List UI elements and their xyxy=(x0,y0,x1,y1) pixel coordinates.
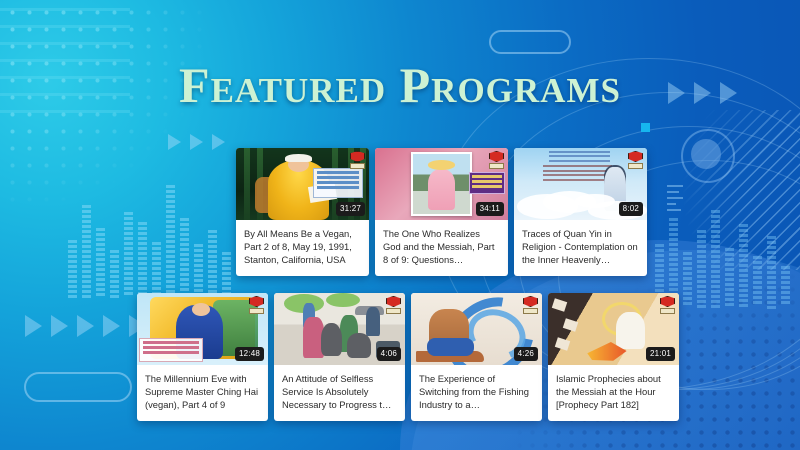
channel-logo-badge xyxy=(488,151,505,171)
triangle-icon xyxy=(25,315,42,337)
program-card[interactable]: 21:01 Islamic Prophecies about the Messi… xyxy=(548,293,679,421)
crest-icon xyxy=(523,296,538,307)
card-meta: Traces of Quan Yin in Religion - Contemp… xyxy=(514,220,647,276)
crest-label-bar xyxy=(386,308,401,314)
accent-square xyxy=(641,123,650,132)
crest-label-bar xyxy=(249,308,264,314)
program-card[interactable]: 8:02 Traces of Quan Yin in Religion - Co… xyxy=(514,148,647,276)
card-thumbnail[interactable]: 34:11 xyxy=(375,148,508,220)
card-thumbnail[interactable]: 8:02 xyxy=(514,148,647,220)
card-meta: By All Means Be a Vegan, Part 2 of 8, Ma… xyxy=(236,220,369,276)
crest-icon xyxy=(386,296,401,307)
crest-label-bar xyxy=(660,308,675,314)
featured-row-top: 31:27 By All Means Be a Vegan, Part 2 of… xyxy=(236,148,647,276)
pill-outline-bottom-left xyxy=(24,372,132,402)
channel-logo-badge xyxy=(349,151,366,171)
crest-icon xyxy=(350,151,365,162)
triangle-icon xyxy=(190,134,203,150)
card-title: The Experience of Switching from the Fis… xyxy=(419,372,534,412)
crest-icon xyxy=(249,296,264,307)
card-title: Traces of Quan Yin in Religion - Contemp… xyxy=(522,227,639,267)
triangle-icon xyxy=(51,315,68,337)
ring-outline-right xyxy=(681,129,735,183)
crest-icon xyxy=(628,151,643,162)
card-title: Islamic Prophecies about the Messiah at … xyxy=(556,372,671,412)
card-thumbnail[interactable]: 4:26 xyxy=(411,293,542,365)
program-card[interactable]: 34:11 The One Who Realizes God and the M… xyxy=(375,148,508,276)
page-title: Featured Programs xyxy=(0,58,800,112)
featured-row-bottom: 12:48 The Millennium Eve with Supreme Ma… xyxy=(137,293,679,421)
featured-programs-slide: Featured Programs 31:27 xyxy=(0,0,800,450)
arrow-triangles-title-left xyxy=(168,134,225,150)
triangle-icon xyxy=(212,134,225,150)
filled-circle-right xyxy=(691,139,721,169)
duration-badge: 31:27 xyxy=(336,202,365,216)
duration-badge: 34:11 xyxy=(476,202,504,216)
card-meta: An Attitude of Selfless Service Is Absol… xyxy=(274,365,405,421)
crest-label-bar xyxy=(350,163,365,169)
diagonal-lines-decoration xyxy=(650,110,800,270)
program-card[interactable]: 12:48 The Millennium Eve with Supreme Ma… xyxy=(137,293,268,421)
card-thumbnail[interactable]: 21:01 xyxy=(548,293,679,365)
equalizer-graphic-left xyxy=(68,170,238,300)
channel-logo-badge xyxy=(248,296,265,316)
triangle-icon xyxy=(77,315,94,337)
channel-logo-badge xyxy=(659,296,676,316)
card-title: By All Means Be a Vegan, Part 2 of 8, Ma… xyxy=(244,227,361,267)
card-title: The One Who Realizes God and the Messiah… xyxy=(383,227,500,267)
tick-marks-decoration xyxy=(667,185,683,215)
channel-logo-badge xyxy=(522,296,539,316)
program-card[interactable]: 4:06 An Attitude of Selfless Service Is … xyxy=(274,293,405,421)
pill-outline-top xyxy=(489,30,571,54)
card-thumbnail[interactable]: 4:06 xyxy=(274,293,405,365)
card-meta: The Experience of Switching from the Fis… xyxy=(411,365,542,421)
crest-icon xyxy=(489,151,504,162)
duration-badge: 4:26 xyxy=(514,347,538,361)
crest-label-bar xyxy=(489,163,504,169)
duration-badge: 12:48 xyxy=(235,347,264,361)
card-thumbnail[interactable]: 12:48 xyxy=(137,293,268,365)
duration-badge: 4:06 xyxy=(377,347,401,361)
crest-label-bar xyxy=(628,163,643,169)
channel-logo-badge xyxy=(385,296,402,316)
program-card[interactable]: 4:26 The Experience of Switching from th… xyxy=(411,293,542,421)
duration-badge: 8:02 xyxy=(619,202,643,216)
card-meta: The One Who Realizes God and the Messiah… xyxy=(375,220,508,276)
triangle-icon xyxy=(103,315,120,337)
card-title: The Millennium Eve with Supreme Master C… xyxy=(145,372,260,412)
card-thumbnail[interactable]: 31:27 xyxy=(236,148,369,220)
duration-badge: 21:01 xyxy=(646,347,675,361)
card-meta: Islamic Prophecies about the Messiah at … xyxy=(548,365,679,421)
crest-icon xyxy=(660,296,675,307)
triangle-icon xyxy=(168,134,181,150)
crest-label-bar xyxy=(523,308,538,314)
program-card[interactable]: 31:27 By All Means Be a Vegan, Part 2 of… xyxy=(236,148,369,276)
card-meta: The Millennium Eve with Supreme Master C… xyxy=(137,365,268,421)
card-title: An Attitude of Selfless Service Is Absol… xyxy=(282,372,397,412)
channel-logo-badge xyxy=(627,151,644,171)
